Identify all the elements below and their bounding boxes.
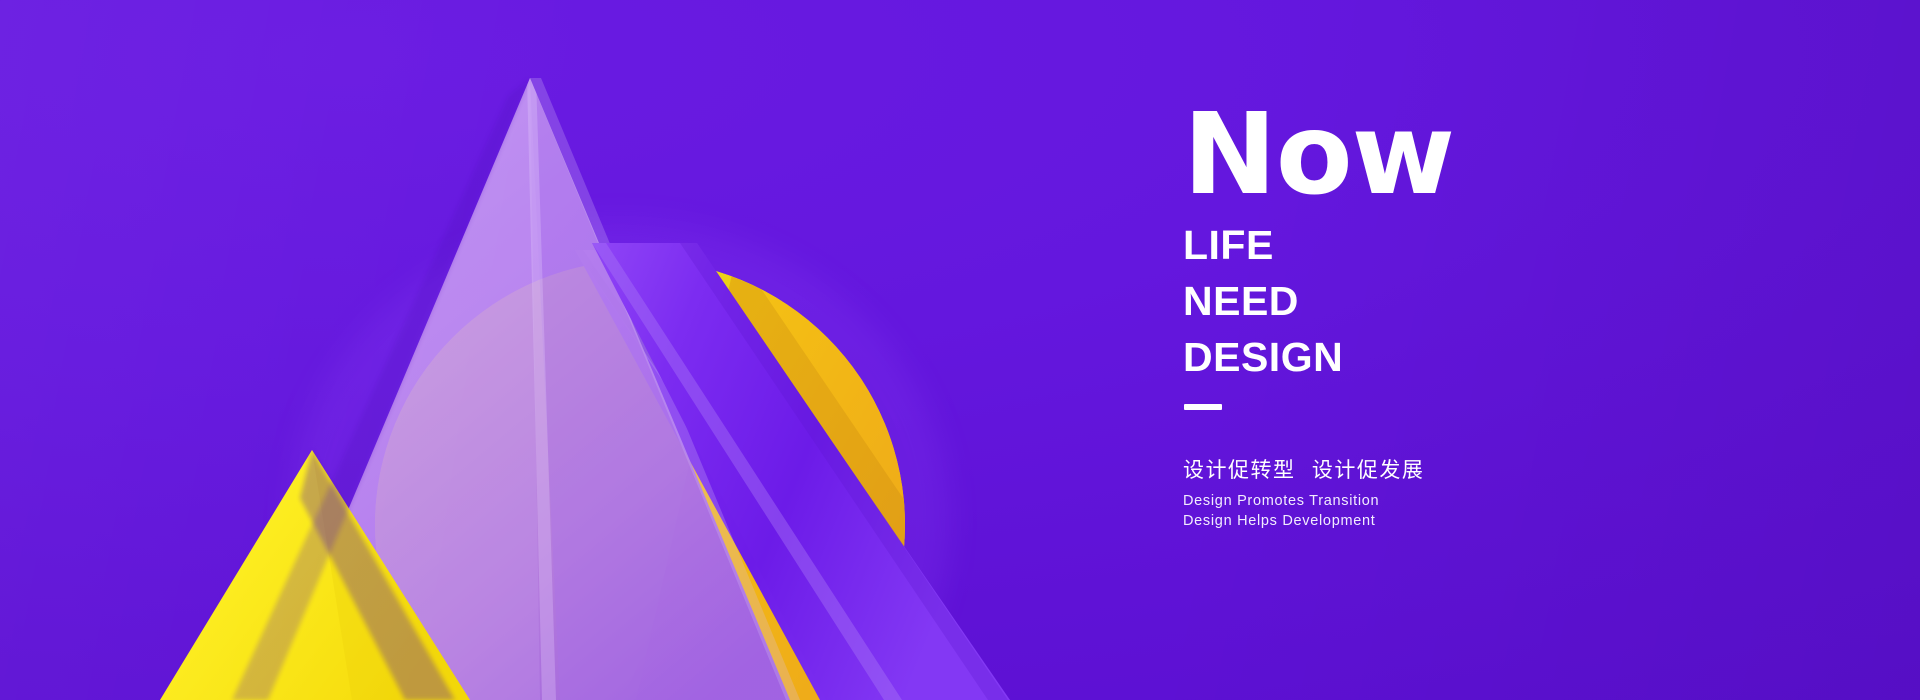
headline-line-design: DESIGN — [1183, 336, 1603, 380]
hero-banner: Now LIFE NEED DESIGN 设计促转型 设计促发展 Design … — [0, 0, 1920, 700]
tagline-chinese: 设计促转型 设计促发展 — [1183, 454, 1603, 484]
headline-word-now: Now — [1183, 108, 1603, 202]
headline-line-life: LIFE — [1183, 224, 1603, 268]
tagline-english-line-2: Design Helps Development — [1183, 512, 1603, 532]
divider-rule — [1184, 404, 1222, 410]
headline-text-block: Now LIFE NEED DESIGN 设计促转型 设计促发展 Design … — [1183, 108, 1603, 532]
headline-line-need: NEED — [1183, 280, 1603, 324]
tagline-english-line-1: Design Promotes Transition — [1183, 492, 1603, 512]
abstract-artwork — [0, 0, 1100, 700]
